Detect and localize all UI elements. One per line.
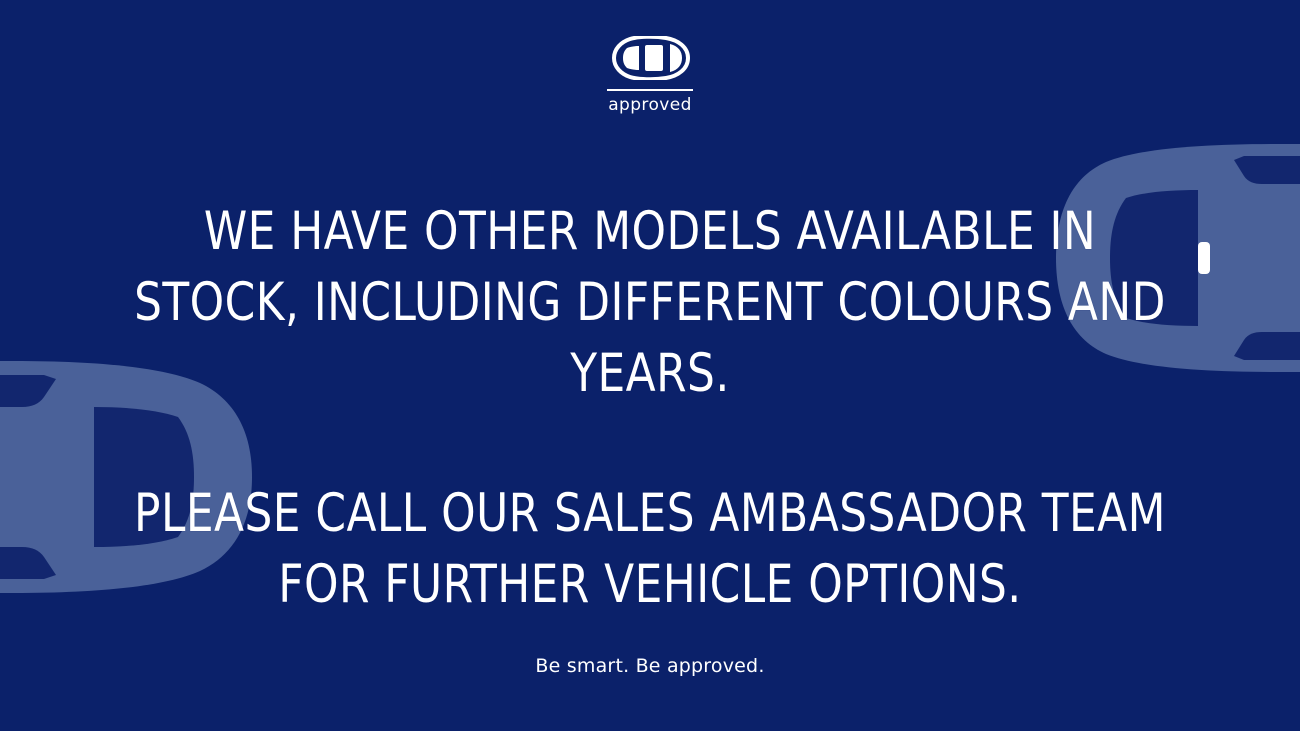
brand-logo: approved xyxy=(0,36,1300,115)
logo-divider xyxy=(607,89,693,91)
brand-tagline: Be smart. Be approved. xyxy=(0,655,1300,677)
promo-banner: approved We have other models available … xyxy=(0,0,1300,731)
car-top-view-icon xyxy=(610,36,690,80)
headline-secondary: Please call our sales ambassador team fo… xyxy=(52,478,1248,620)
promo-copy: We have other models available in stock,… xyxy=(0,196,1300,620)
headline-primary: We have other models available in stock,… xyxy=(52,196,1248,409)
logo-wordmark: approved xyxy=(608,95,692,115)
